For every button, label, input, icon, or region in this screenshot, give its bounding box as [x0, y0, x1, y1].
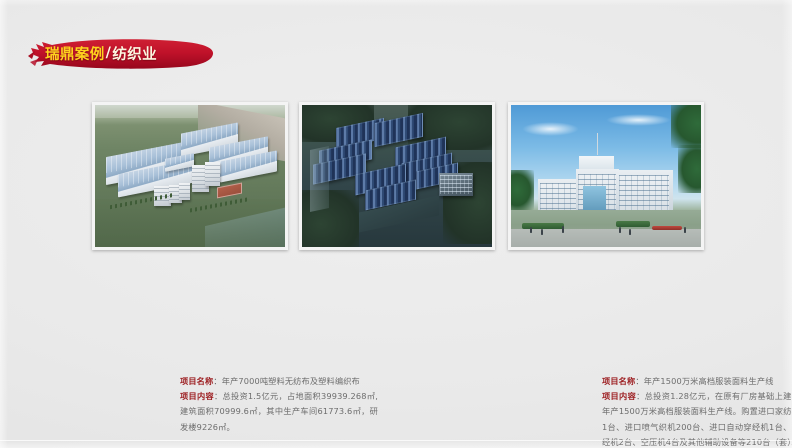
hedge: [616, 221, 650, 227]
banner-title: 瑞鼎案例/纺织业: [28, 36, 218, 70]
case-card-3: 项目名称：年产60万吨服装生产线项目 项目内容：总投资1.2亿元，需建设生产车间…: [508, 102, 704, 250]
render-office-building-streetview: [511, 105, 701, 247]
case-card-1: 项目名称：年产7000吨塑料无纺布及塑料编织布 项目内容：总投资1.5亿元，占地…: [92, 102, 288, 250]
render-aerial-industrial-park: [95, 105, 285, 247]
hedge: [522, 223, 564, 229]
palm-tree: [678, 145, 701, 193]
colon: ：: [635, 376, 643, 386]
case-photo-frame-1: [92, 102, 288, 250]
project-name-row-1: 项目名称：年产7000吨塑料无纺布及塑料编织布: [180, 374, 378, 389]
pedestrian: [684, 227, 686, 233]
palm-tree: [511, 170, 534, 210]
section-banner: 瑞鼎案例/纺织业: [28, 36, 218, 70]
case-card-2: 项目名称：年产1500万米高档服装面料生产线 项目内容：总投资1.28亿元，在原…: [299, 102, 495, 250]
banner-separator: /: [106, 45, 112, 61]
case-text-1: 项目名称：年产7000吨塑料无纺布及塑料编织布 项目内容：总投资1.5亿元，占地…: [180, 374, 378, 435]
office-block: [205, 162, 220, 186]
colon: ：: [213, 376, 221, 386]
project-name-value: 年产7000吨塑料无纺布及塑料编织布: [222, 376, 360, 386]
antenna-mast: [597, 133, 598, 154]
plaza-pavement: [511, 229, 701, 247]
project-content-label: 项目内容: [602, 391, 636, 401]
banner-brand: 瑞鼎案例: [45, 43, 105, 64]
project-name-row-2: 项目名称：年产1500万米高档服装面料生产线: [602, 374, 792, 389]
banner-industry: 纺织业: [112, 43, 157, 64]
case-photo-frame-2: [299, 102, 495, 250]
flower-bed: [652, 226, 682, 230]
case-text-2: 项目名称：年产1500万米高档服装面料生产线 项目内容：总投资1.28亿元，在原…: [602, 374, 792, 448]
render-aerial-textile-factory: [302, 105, 492, 247]
case-photo-frame-3: [508, 102, 704, 250]
project-content-label: 项目内容: [180, 391, 214, 401]
cloud: [522, 122, 579, 136]
office-block: [179, 183, 190, 200]
palm-tree: [671, 105, 701, 148]
pedestrian: [629, 229, 631, 235]
pedestrian: [530, 227, 532, 233]
project-content-row-2: 项目内容：总投资1.28亿元，在原有厂房基础上建设年产1500万米高档服装面料生…: [602, 389, 792, 448]
office-building: [439, 173, 473, 196]
project-name-value: 年产1500万米高档服装面料生产线: [644, 376, 774, 386]
project-content-row-1: 项目内容：总投资1.5亿元，占地面积39939.268㎡,建筑面积70999.6…: [180, 389, 378, 435]
colon: ：: [636, 391, 645, 401]
project-name-label: 项目名称: [180, 376, 213, 386]
slide-canvas: 瑞鼎案例/纺织业: [0, 0, 792, 448]
internal-road: [310, 146, 329, 213]
cloud: [606, 114, 671, 127]
project-name-label: 项目名称: [602, 376, 635, 386]
